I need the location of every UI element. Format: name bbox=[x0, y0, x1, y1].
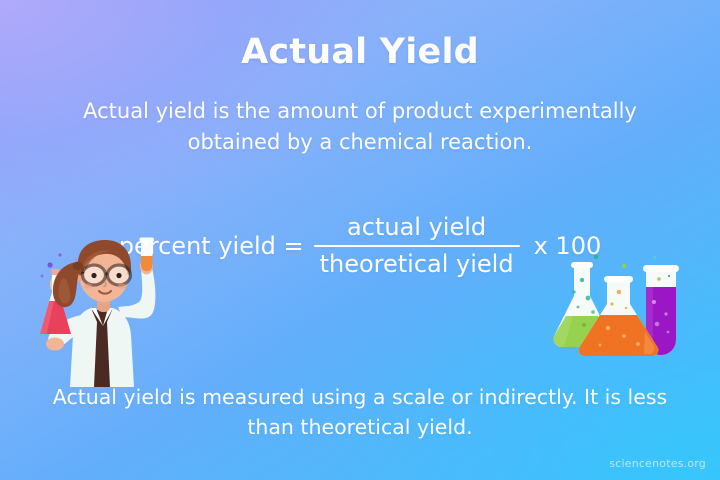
formula-fraction: actual yield theoretical yield bbox=[314, 212, 520, 279]
fraction-bar bbox=[314, 245, 520, 247]
page-title: Actual Yield bbox=[0, 30, 720, 74]
hair-tie bbox=[73, 262, 84, 271]
watermark: sciencenotes.org bbox=[609, 457, 706, 470]
infographic-canvas: Actual Yield Actual yield is the amount … bbox=[0, 0, 720, 480]
right-eye bbox=[116, 273, 121, 278]
measurement-note: Actual yield is measured using a scale o… bbox=[45, 382, 675, 442]
glassware-illustration bbox=[550, 252, 700, 362]
fraction-numerator: actual yield bbox=[341, 212, 492, 242]
fraction-denominator: theoretical yield bbox=[314, 249, 520, 279]
scientist-left-hand bbox=[46, 338, 64, 351]
left-eye bbox=[91, 273, 96, 278]
held-test-tube bbox=[140, 238, 155, 272]
test-tube-liquid bbox=[141, 256, 153, 271]
definition-text: Actual yield is the amount of product ex… bbox=[60, 96, 660, 158]
scientist-illustration bbox=[18, 222, 208, 387]
